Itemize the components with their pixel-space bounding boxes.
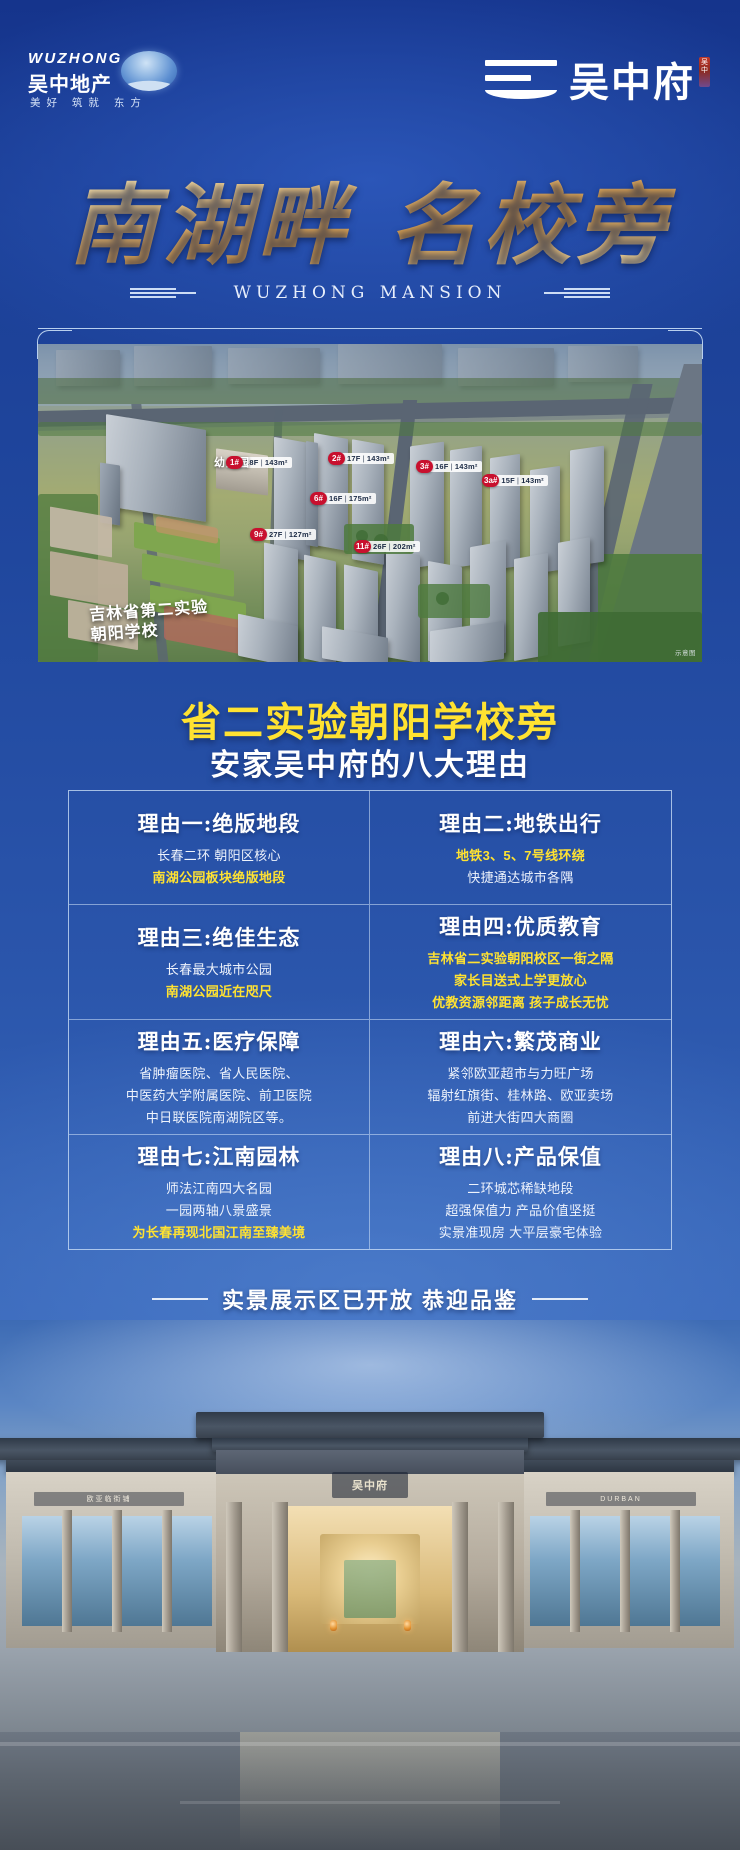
footer-dash-right-icon: [532, 1298, 588, 1300]
reason-title: 理由二:地铁出行: [439, 808, 602, 838]
map-tag-building: 11# 26F|202m²: [354, 540, 420, 553]
map-tag-building: 2# 17F|143m²: [328, 452, 394, 465]
reason-cell-1: 理由一:绝版地段 长春二环 朝阳区核心 南湖公园板块绝版地段: [69, 791, 370, 905]
hero-pinyin-line: WUZHONG MANSION: [0, 283, 740, 303]
reason-line: 中医药大学附属医院、前卫医院: [126, 1087, 312, 1106]
reason-cell-6: 理由六:繁茂商业 紧邻欧亚超市与力旺广场 辐射红旗街、桂林路、欧亚卖场 前进大街…: [370, 1020, 671, 1135]
reason-line: 辐射红旗街、桂林路、欧亚卖场: [427, 1087, 613, 1106]
shop-sign-right: DURBAN: [546, 1492, 696, 1506]
reason-line: 师法江南四大名园: [133, 1180, 306, 1199]
reason-lines: 长春最大城市公园 南湖公园近在咫尺: [166, 961, 272, 1002]
reason-lines: 二环城芯稀缺地段 超强保值力 产品价值坚挺 实景准现房 大平层豪宅体验: [439, 1180, 603, 1243]
reason-lines: 紧邻欧亚超市与力旺广场 辐射红旗街、桂林路、欧亚卖场 前进大街四大商圈: [427, 1065, 613, 1128]
reason-title: 理由八:产品保值: [439, 1141, 602, 1171]
reason-line: 快捷通达城市各隅: [456, 869, 585, 888]
hero-section: 南湖畔名校旁 WUZHONG MANSION: [0, 155, 740, 315]
reason-lines: 吉林省二实验朝阳校区一街之隔 家长目送式上学更放心 优教资源邻距离 孩子成长无忧: [427, 950, 613, 1013]
reason-cell-7: 理由七:江南园林 师法江南四大名园 一园两轴八景盛景 为长春再现北国江南至臻美境: [69, 1135, 370, 1249]
reason-line: 南湖公园近在咫尺: [166, 983, 272, 1002]
reason-lines: 长春二环 朝阳区核心 南湖公园板块绝版地段: [152, 847, 285, 888]
footer-banner-text: 实景展示区已开放 恭迎品鉴: [222, 1283, 518, 1315]
developer-name-en: WUZHONG: [28, 50, 123, 67]
reason-cell-4: 理由四:优质教育 吉林省二实验朝阳校区一街之隔 家长目送式上学更放心 优教资源邻…: [370, 905, 671, 1020]
project-seal-icon: 吴中: [699, 57, 710, 87]
map-label-school: 吉林省第二实验 朝阳学校: [89, 598, 211, 646]
reason-cell-5: 理由五:医疗保障 省肿瘤医院、省人民医院、 中医药大学附属医院、前卫医院 中日联…: [69, 1020, 370, 1135]
reason-line: 紧邻欧亚超市与力旺广场: [427, 1065, 613, 1084]
lantern-icon: [330, 1620, 337, 1631]
reason-line: 超强保值力 产品价值坚挺: [439, 1202, 603, 1221]
reason-line: 优教资源邻距离 孩子成长无忧: [427, 994, 613, 1013]
reason-line: 长春最大城市公园: [166, 961, 272, 980]
reason-lines: 师法江南四大名园 一园两轴八景盛景 为长春再现北国江南至臻美境: [133, 1180, 306, 1243]
reason-line: 二环城芯稀缺地段: [439, 1180, 603, 1199]
developer-name-cn: 吴中地产: [28, 68, 112, 97]
reason-title: 理由四:优质教育: [439, 911, 602, 941]
hero-calligraphy-left: 南湖畔: [69, 173, 351, 277]
project-logo: 吴中府 吴中: [485, 48, 710, 110]
reason-cell-2: 理由二:地铁出行 地铁3、5、7号线环绕 快捷通达城市各隅: [370, 791, 671, 905]
reason-line: 为长春再现北国江南至臻美境: [133, 1224, 306, 1243]
reason-line: 一园两轴八景盛景: [133, 1202, 306, 1221]
reason-line: 南湖公园板块绝版地段: [152, 869, 285, 888]
hero-pinyin-text: WUZHONG MANSION: [234, 283, 507, 303]
three-bar-mark-icon: [485, 54, 557, 104]
reason-title: 理由一:绝版地段: [138, 808, 301, 838]
reason-line: 省肿瘤医院、省人民医院、: [126, 1065, 312, 1084]
reason-title: 理由六:繁茂商业: [439, 1026, 602, 1056]
reason-title: 理由七:江南园林: [138, 1141, 301, 1171]
shop-sign-left: 欧亚临街铺: [34, 1492, 184, 1506]
footer-dash-left-icon: [152, 1298, 208, 1300]
map-disclaimer-note: 示意图: [675, 647, 696, 657]
hero-calligraphy-right: 名校旁: [389, 173, 671, 277]
reason-line: 家长目送式上学更放心: [427, 972, 613, 991]
map-tag-building: 9# 27F|127m²: [250, 528, 316, 541]
hero-dash-left-icon: [130, 287, 222, 299]
map-tag-building: 1# 18F|143m²: [226, 456, 292, 469]
project-name: 吴中府: [569, 50, 695, 108]
map-tag-building: 3a# 15F|143m²: [482, 474, 548, 487]
reason-lines: 地铁3、5、7号线环绕 快捷通达城市各隅: [456, 847, 585, 888]
showroom-photo: 欧亚临街铺 DURBAN 吴中府: [0, 1320, 740, 1850]
poster-root: WUZHONG 吴中地产 美好 筑就 东方 吴中府 吴中 南湖畔名校旁 WUZH…: [0, 0, 740, 1850]
reason-lines: 省肿瘤医院、省人民医院、 中医药大学附属医院、前卫医院 中日联医院南湖院区等。: [126, 1065, 312, 1128]
oval-wave-logo-icon: [121, 51, 177, 91]
map-tag-building: 3# 16F|143m²: [416, 460, 482, 473]
reason-line: 中日联医院南湖院区等。: [126, 1109, 312, 1128]
developer-logo: WUZHONG 吴中地产 美好 筑就 东方: [25, 46, 245, 112]
reason-cell-3: 理由三:绝佳生态 长春最大城市公园 南湖公园近在咫尺: [69, 905, 370, 1020]
reason-line: 吉林省二实验朝阳校区一街之隔: [427, 950, 613, 969]
map-tag-building: 6# 16F|175m²: [310, 492, 376, 505]
reason-line: 地铁3、5、7号线环绕: [456, 847, 585, 866]
reason-line: 长春二环 朝阳区核心: [152, 847, 285, 866]
hero-calligraphy: 南湖畔名校旁: [0, 155, 740, 282]
lantern-icon: [404, 1620, 411, 1631]
reason-title: 理由三:绝佳生态: [138, 922, 301, 952]
developer-slogan: 美好 筑就 东方: [30, 95, 147, 110]
reason-line: 实景准现房 大平层豪宅体验: [439, 1224, 603, 1243]
aerial-map-image: 1# 18F|143m² 2# 17F|143m² 3# 16F|143m² 3…: [38, 344, 702, 662]
reason-cell-8: 理由八:产品保值 二环城芯稀缺地段 超强保值力 产品价值坚挺 实景准现房 大平层…: [370, 1135, 671, 1249]
plaza-reflection: [240, 1732, 500, 1850]
aerial-map-frame: 1# 18F|143m² 2# 17F|143m² 3# 16F|143m² 3…: [38, 328, 702, 662]
reasons-grid: 理由一:绝版地段 长春二环 朝阳区核心 南湖公园板块绝版地段 理由二:地铁出行 …: [68, 790, 672, 1250]
hero-dash-right-icon: [518, 287, 610, 299]
footer-banner: 实景展示区已开放 恭迎品鉴: [0, 1283, 740, 1315]
reason-line: 前进大街四大商圈: [427, 1109, 613, 1128]
reason-title: 理由五:医疗保障: [138, 1026, 301, 1056]
poster-header: WUZHONG 吴中地产 美好 筑就 东方 吴中府 吴中: [0, 0, 740, 140]
section-subtitle: 安家吴中府的八大理由: [0, 740, 740, 784]
showroom-sign: 吴中府: [332, 1472, 408, 1498]
